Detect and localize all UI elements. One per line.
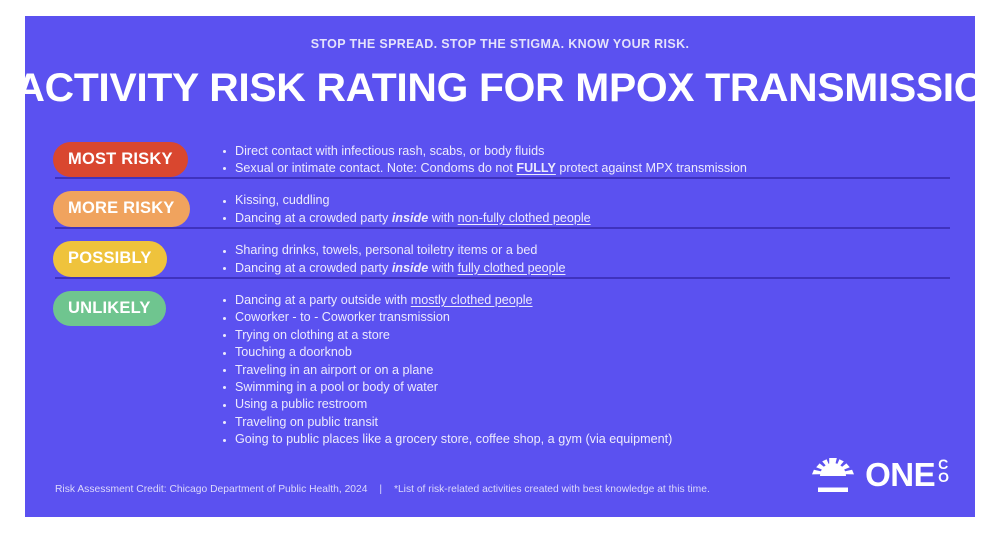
bullet-text-segment: fully clothed people [458, 261, 566, 275]
logo-co-suffix: C O [938, 458, 949, 484]
risk-level-badge: POSSIBLY [53, 241, 167, 277]
infographic-card: STOP THE SPREAD. STOP THE STIGMA. KNOW Y… [25, 16, 975, 517]
bullet-text-segment: Going to public places like a grocery st… [235, 432, 672, 446]
logo-co-bottom: O [938, 471, 949, 484]
footer-note-text: *List of risk-related activities created… [394, 484, 710, 495]
bullet-text-segment: protect against MPX transmission [556, 161, 747, 175]
list-item: Swimming in a pool or body of water [221, 379, 975, 396]
bullet-text-segment: Traveling on public transit [235, 415, 378, 429]
bullet-text-segment: inside [392, 261, 428, 275]
brand-logo: ONE C O [810, 453, 949, 497]
risk-level-badge: UNLIKELY [53, 291, 166, 327]
bullet-text-segment: Sharing drinks, towels, personal toiletr… [235, 243, 537, 257]
bullet-group: Sharing drinks, towels, personal toiletr… [221, 240, 975, 277]
bullet-text-segment: Kissing, cuddling [235, 193, 330, 207]
footer-credit-text: Risk Assessment Credit: Chicago Departme… [55, 484, 368, 495]
badge-cell: MOST RISKY [53, 141, 221, 178]
list-item: Dancing at a crowded party inside with f… [221, 260, 975, 277]
list-item: Kissing, cuddling [221, 192, 975, 209]
list-item: Touching a doorknob [221, 344, 975, 361]
badge-cell: POSSIBLY [53, 240, 221, 277]
risk-row: POSSIBLYSharing drinks, towels, personal… [53, 227, 975, 277]
bullet-text-segment: Dancing at a crowded party [235, 261, 392, 275]
list-item: Direct contact with infectious rash, sca… [221, 143, 975, 160]
list-item: Trying on clothing at a store [221, 327, 975, 344]
footer-credit: Risk Assessment Credit: Chicago Departme… [55, 485, 710, 495]
bullet-text-segment: Touching a doorknob [235, 345, 352, 359]
list-item: Sexual or intimate contact. Note: Condom… [221, 160, 975, 177]
footer-separator: | [370, 484, 391, 495]
risk-row: UNLIKELYDancing at a party outside with … [53, 277, 975, 449]
bullet-text-segment: FULLY [516, 161, 555, 175]
row-divider [55, 227, 950, 229]
risk-level-badge: MORE RISKY [53, 191, 190, 227]
bullet-list: Direct contact with infectious rash, sca… [221, 143, 975, 178]
list-item: Traveling on public transit [221, 414, 975, 431]
badge-cell: MORE RISKY [53, 190, 221, 227]
list-item: Coworker - to - Coworker transmission [221, 309, 975, 326]
bullet-list: Dancing at a party outside with mostly c… [221, 292, 975, 449]
bullet-text-segment: with [428, 211, 457, 225]
bullet-group: Dancing at a party outside with mostly c… [221, 290, 975, 449]
risk-row: MOST RISKYDirect contact with infectious… [53, 130, 975, 178]
bullet-text-segment: Coworker - to - Coworker transmission [235, 310, 450, 324]
bullet-text-segment: Traveling in an airport or on a plane [235, 363, 433, 377]
subtitle: STOP THE SPREAD. STOP THE STIGMA. KNOW Y… [25, 16, 975, 51]
badge-cell: UNLIKELY [53, 290, 221, 327]
bullet-text-segment: inside [392, 211, 428, 225]
list-item: Traveling in an airport or on a plane [221, 362, 975, 379]
risk-level-badge: MOST RISKY [53, 142, 188, 178]
bullet-group: Direct contact with infectious rash, sca… [221, 141, 975, 178]
bullet-text-segment: Using a public restroom [235, 397, 367, 411]
bullet-list: Kissing, cuddlingDancing at a crowded pa… [221, 192, 975, 227]
bullet-text-segment: with [428, 261, 457, 275]
bullet-text-segment: Trying on clothing at a store [235, 328, 390, 342]
row-divider [55, 277, 950, 279]
bullet-list: Sharing drinks, towels, personal toiletr… [221, 242, 975, 277]
risk-rows: MOST RISKYDirect contact with infectious… [25, 130, 975, 449]
list-item: Sharing drinks, towels, personal toiletr… [221, 242, 975, 259]
list-item: Going to public places like a grocery st… [221, 431, 975, 448]
bullet-group: Kissing, cuddlingDancing at a crowded pa… [221, 190, 975, 227]
bullet-text-segment: non-fully clothed people [458, 211, 591, 225]
sunburst-icon [810, 458, 856, 492]
row-divider [55, 177, 950, 179]
list-item: Using a public restroom [221, 396, 975, 413]
bullet-text-segment: Direct contact with infectious rash, sca… [235, 144, 544, 158]
list-item: Dancing at a party outside with mostly c… [221, 292, 975, 309]
list-item: Dancing at a crowded party inside with n… [221, 210, 975, 227]
bullet-text-segment: Dancing at a party outside with [235, 293, 411, 307]
risk-row: MORE RISKYKissing, cuddlingDancing at a … [53, 177, 975, 227]
bullet-text-segment: Swimming in a pool or body of water [235, 380, 438, 394]
bullet-text-segment: mostly clothed people [411, 293, 533, 307]
logo-wordmark: ONE [865, 458, 935, 491]
page-title: ACTIVITY RISK RATING FOR MPOX TRANSMISSI… [25, 68, 975, 108]
bullet-text-segment: Dancing at a crowded party [235, 211, 392, 225]
bullet-text-segment: Sexual or intimate contact. Note: Condom… [235, 161, 516, 175]
